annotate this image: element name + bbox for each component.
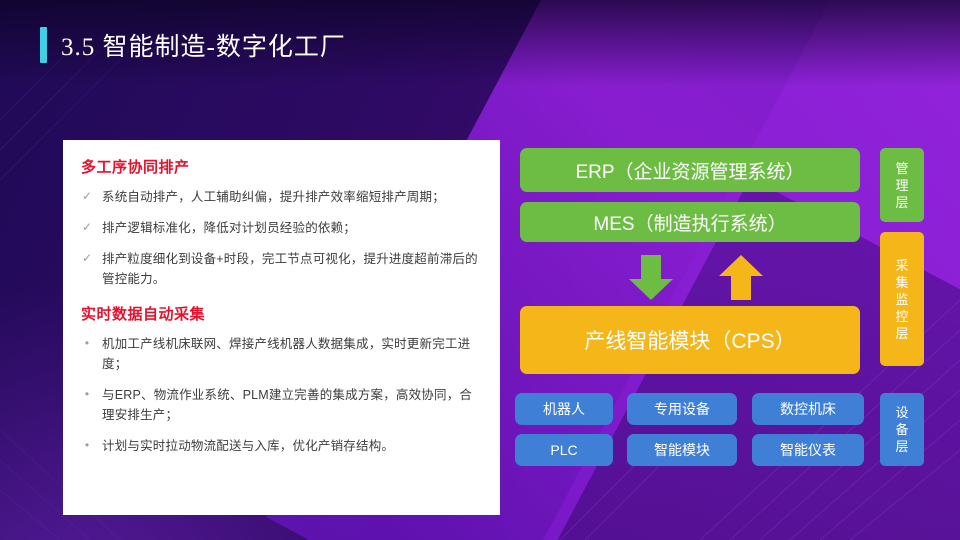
bullet-icon: • bbox=[81, 385, 93, 404]
layer-label-device: 设 备 层 bbox=[880, 393, 924, 466]
layer-label-device-char-1: 设 bbox=[895, 404, 908, 421]
layer-label-management: 管 理 层 bbox=[880, 148, 924, 222]
list-item: ✓ 系统自动排产，人工辅助纠偏，提升排产效率缩短排产周期； bbox=[81, 187, 482, 207]
content-panel: 多工序协同排产 ✓ 系统自动排产，人工辅助纠偏，提升排产效率缩短排产周期； ✓ … bbox=[63, 140, 500, 515]
list-item: • 与ERP、物流作业系统、PLM建立完善的集成方案，高效协同，合理安排生产； bbox=[81, 385, 482, 425]
layer-label-management-char-2: 理 bbox=[895, 177, 908, 194]
check-icon: ✓ bbox=[81, 187, 93, 206]
layer-label-management-char-1: 管 bbox=[895, 160, 908, 177]
layer-label-collection-char-5: 层 bbox=[895, 325, 908, 342]
layer-label-collection-char-2: 集 bbox=[895, 274, 908, 291]
check-icon: ✓ bbox=[81, 249, 93, 268]
list-item-text: 系统自动排产，人工辅助纠偏，提升排产效率缩短排产周期； bbox=[102, 187, 445, 207]
diagram-device-robot: 机器人 bbox=[515, 393, 613, 425]
slide: 3.5 智能制造-数字化工厂 多工序协同排产 ✓ 系统自动排产，人工辅助纠偏，提… bbox=[0, 0, 960, 540]
page-title: 3.5 智能制造-数字化工厂 bbox=[61, 27, 346, 63]
list-item-text: 机加工产线机床联网、焊接产线机器人数据集成，实时更新完工进度； bbox=[102, 334, 482, 374]
layer-label-management-char-3: 层 bbox=[895, 194, 908, 211]
diagram-device-special-equipment: 专用设备 bbox=[627, 393, 737, 425]
layer-label-collection-char-1: 采 bbox=[895, 257, 908, 274]
layer-label-collection-monitoring: 采 集 监 控 层 bbox=[880, 232, 924, 366]
list-item-text: 与ERP、物流作业系统、PLM建立完善的集成方案，高效协同，合理安排生产； bbox=[102, 385, 482, 425]
diagram-device-smart-instrument: 智能仪表 bbox=[752, 434, 864, 466]
list-item: • 计划与实时拉动物流配送与入库，优化产销存结构。 bbox=[81, 436, 482, 456]
arrow-up-icon bbox=[718, 255, 764, 301]
list-item-text: 排产逻辑标准化，降低对计划员经验的依赖； bbox=[102, 218, 356, 238]
bullet-icon: • bbox=[81, 436, 93, 455]
layer-label-device-char-2: 备 bbox=[895, 421, 908, 438]
list-item: ✓ 排产逻辑标准化，降低对计划员经验的依赖； bbox=[81, 218, 482, 238]
layer-label-collection-char-4: 控 bbox=[895, 308, 908, 325]
section-2-heading: 实时数据自动采集 bbox=[81, 303, 482, 324]
list-item: ✓ 排产粒度细化到设备+时段，完工节点可视化，提升进度超前滞后的管控能力。 bbox=[81, 249, 482, 289]
slide-title-group: 3.5 智能制造-数字化工厂 bbox=[40, 27, 346, 63]
diagram-device-plc: PLC bbox=[515, 434, 613, 466]
title-accent-bar bbox=[40, 27, 47, 63]
layer-label-device-char-3: 层 bbox=[895, 438, 908, 455]
diagram-box-mes: MES（制造执行系统） bbox=[520, 202, 860, 242]
diagram-device-smart-module: 智能模块 bbox=[627, 434, 737, 466]
layer-label-collection-char-3: 监 bbox=[895, 291, 908, 308]
section-1-heading: 多工序协同排产 bbox=[81, 156, 482, 177]
diagram-box-cps: 产线智能模块（CPS） bbox=[520, 306, 860, 374]
diagram-box-erp: ERP（企业资源管理系统） bbox=[520, 148, 860, 192]
list-item: • 机加工产线机床联网、焊接产线机器人数据集成，实时更新完工进度； bbox=[81, 334, 482, 374]
diagram-device-cnc-machine: 数控机床 bbox=[752, 393, 864, 425]
check-icon: ✓ bbox=[81, 218, 93, 237]
list-item-text: 计划与实时拉动物流配送与入库，优化产销存结构。 bbox=[102, 436, 394, 456]
arrow-down-icon bbox=[628, 255, 674, 301]
bullet-icon: • bbox=[81, 334, 93, 353]
list-item-text: 排产粒度细化到设备+时段，完工节点可视化，提升进度超前滞后的管控能力。 bbox=[102, 249, 482, 289]
